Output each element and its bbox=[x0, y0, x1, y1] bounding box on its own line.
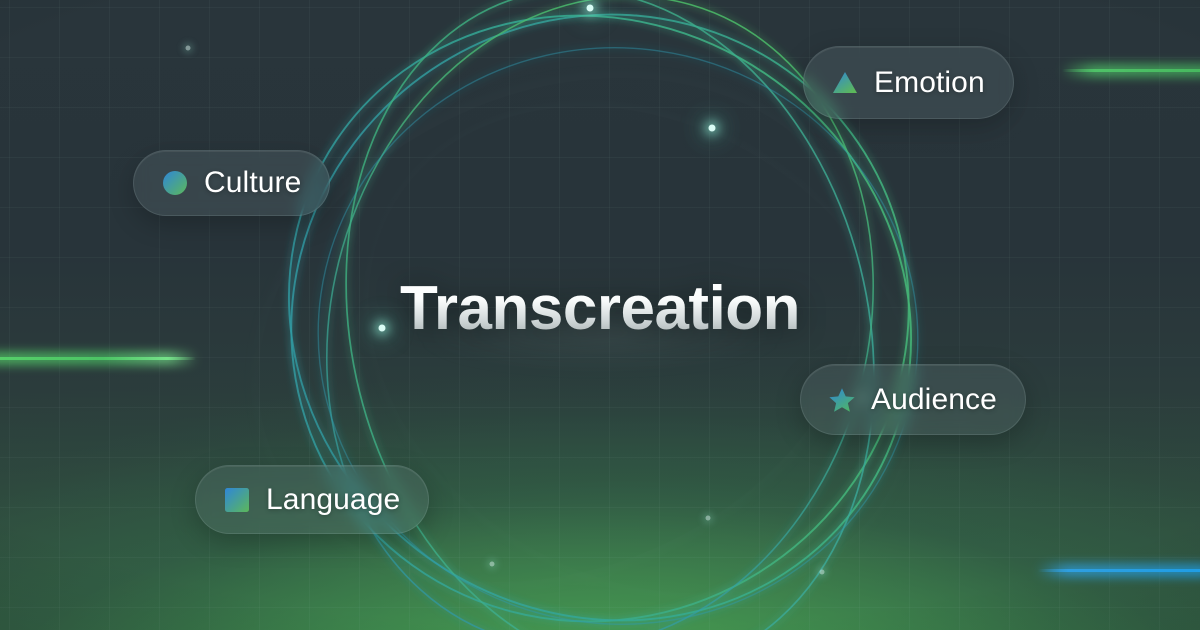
concept-pill-emotion[interactable]: Emotion bbox=[803, 46, 1014, 119]
concept-pill-culture[interactable]: Culture bbox=[133, 150, 330, 216]
right-blue-beam bbox=[1038, 569, 1200, 572]
square-icon bbox=[224, 487, 250, 513]
right-green-beam bbox=[1062, 69, 1200, 72]
transcreation-hero-graphic: Transcreation Culture Emotion Audience bbox=[0, 0, 1200, 630]
left-green-beam bbox=[0, 357, 196, 360]
triangle-icon bbox=[832, 70, 858, 96]
background-vignette bbox=[0, 0, 1200, 630]
concept-pill-label: Culture bbox=[204, 166, 301, 200]
concept-pill-label: Emotion bbox=[874, 66, 985, 100]
circle-icon bbox=[162, 170, 188, 196]
concept-pill-label: Audience bbox=[871, 383, 997, 417]
star-icon bbox=[829, 387, 855, 413]
concept-pill-label: Language bbox=[266, 483, 400, 517]
concept-pill-language[interactable]: Language bbox=[195, 465, 429, 534]
concept-pill-audience[interactable]: Audience bbox=[800, 364, 1026, 435]
